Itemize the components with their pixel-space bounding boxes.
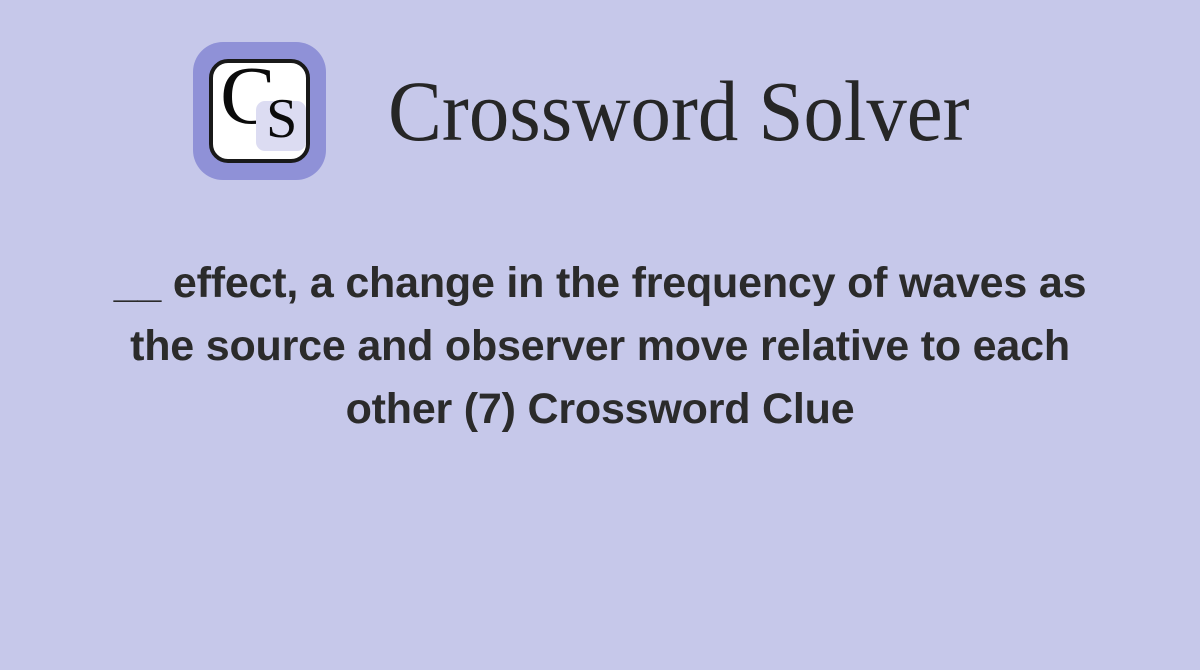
logo-letter-s-icon: S bbox=[266, 91, 297, 147]
page-root: C S Crossword Solver __ effect, a change… bbox=[0, 0, 1200, 670]
site-logo[interactable]: C S bbox=[193, 42, 326, 180]
logo-letter-s-tile: S bbox=[256, 101, 306, 151]
site-title[interactable]: Crossword Solver bbox=[388, 68, 970, 154]
page-title: __ effect, a change in the frequency of … bbox=[100, 252, 1100, 441]
logo-inner-tile: C S bbox=[209, 59, 310, 163]
clue-container: __ effect, a change in the frequency of … bbox=[100, 252, 1100, 441]
site-header: C S Crossword Solver bbox=[0, 26, 1200, 196]
